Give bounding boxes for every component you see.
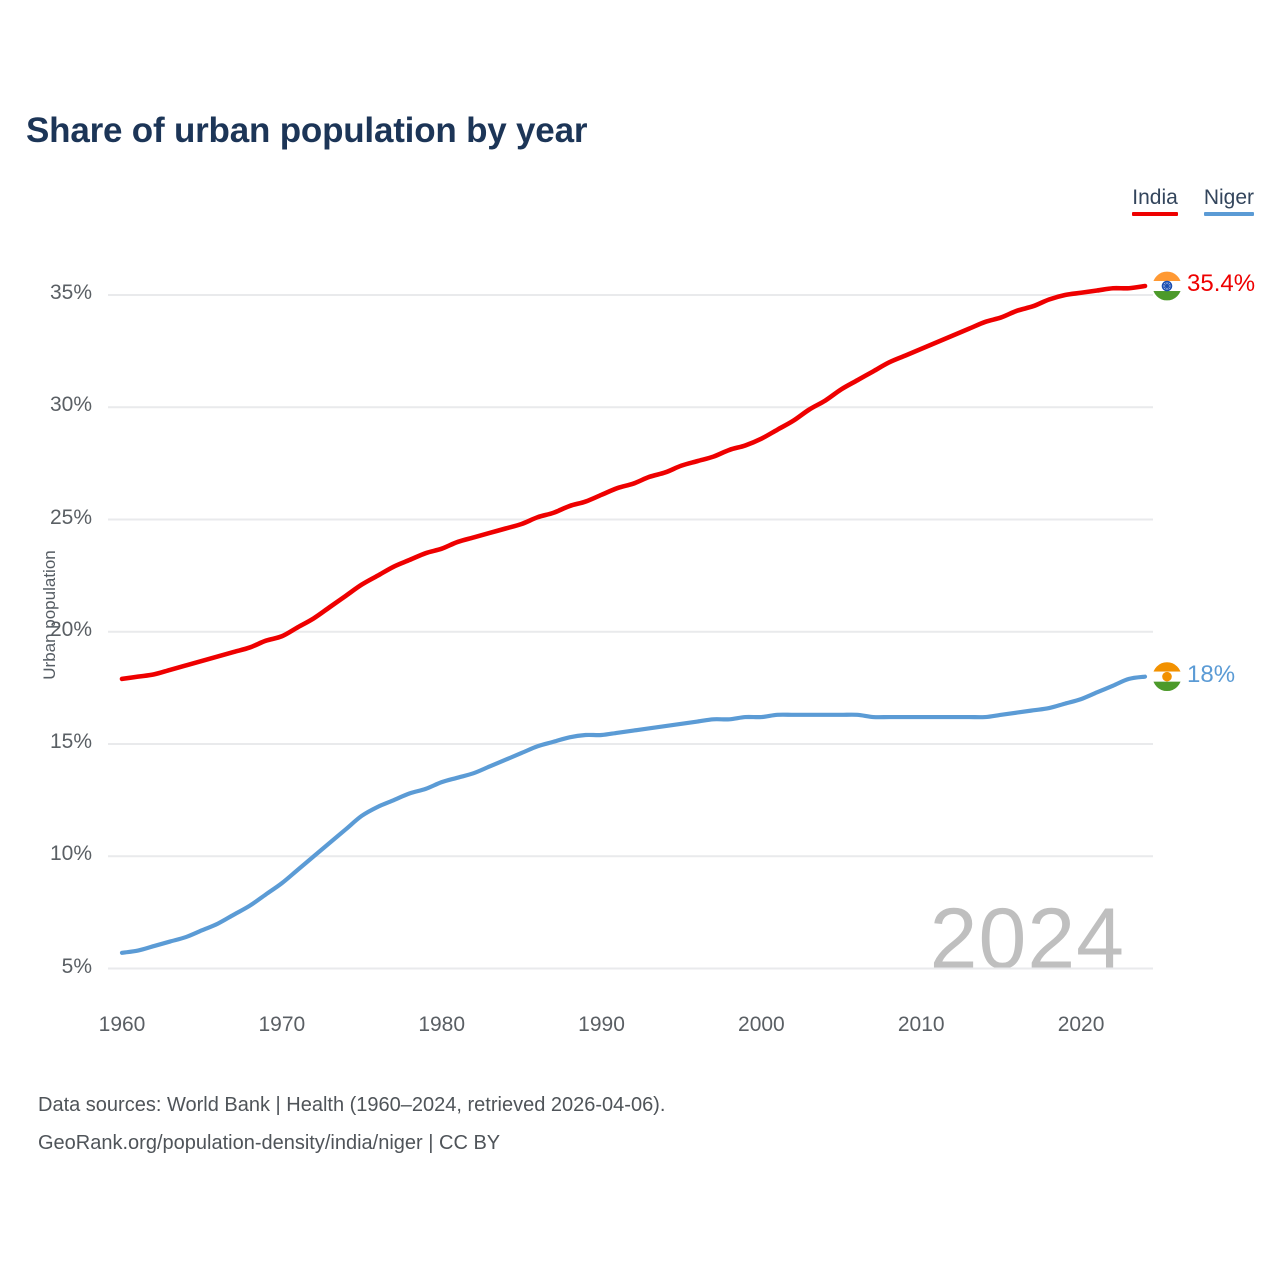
page-title: Share of urban population by year [26, 111, 587, 151]
y-tick-label-25: 25% [22, 506, 92, 530]
x-tick-label-1980: 1980 [397, 1013, 487, 1037]
y-tick-label-30: 30% [22, 393, 92, 417]
chart-page: Share of urban population by year India … [0, 0, 1280, 1280]
legend-item-niger[interactable]: Niger [1204, 185, 1254, 216]
end-value-label-niger: 18% [1187, 661, 1235, 689]
end-value-label-india: 35.4% [1187, 270, 1255, 298]
niger-flag-icon [1152, 662, 1182, 692]
legend-swatch-niger [1204, 212, 1254, 216]
india-flag-icon [1152, 271, 1182, 301]
legend-label-niger: Niger [1204, 185, 1254, 210]
year-watermark: 2024 [930, 890, 1125, 989]
chart-legend: India Niger [1132, 185, 1254, 216]
series-lines [122, 286, 1145, 953]
y-axis-title: Urban population [40, 515, 60, 715]
x-tick-label-1990: 1990 [557, 1013, 647, 1037]
x-tick-label-2010: 2010 [876, 1013, 966, 1037]
legend-swatch-india [1132, 212, 1178, 216]
footer-line-2: GeoRank.org/population-density/india/nig… [38, 1124, 665, 1162]
x-tick-label-2000: 2000 [716, 1013, 806, 1037]
legend-label-india: India [1132, 185, 1178, 210]
series-line-india[interactable] [122, 286, 1145, 679]
footer-line-1: Data sources: World Bank | Health (1960–… [38, 1086, 665, 1124]
gridlines [108, 295, 1153, 969]
footer: Data sources: World Bank | Health (1960–… [38, 1086, 665, 1162]
legend-item-india[interactable]: India [1132, 185, 1178, 216]
x-tick-label-1960: 1960 [77, 1013, 167, 1037]
y-tick-label-15: 15% [22, 730, 92, 754]
y-tick-label-5: 5% [22, 955, 92, 979]
y-tick-label-35: 35% [22, 281, 92, 305]
end-markers [1152, 271, 1182, 692]
y-tick-label-20: 20% [22, 618, 92, 642]
x-tick-label-2020: 2020 [1036, 1013, 1126, 1037]
y-tick-label-10: 10% [22, 842, 92, 866]
x-tick-label-1970: 1970 [237, 1013, 327, 1037]
